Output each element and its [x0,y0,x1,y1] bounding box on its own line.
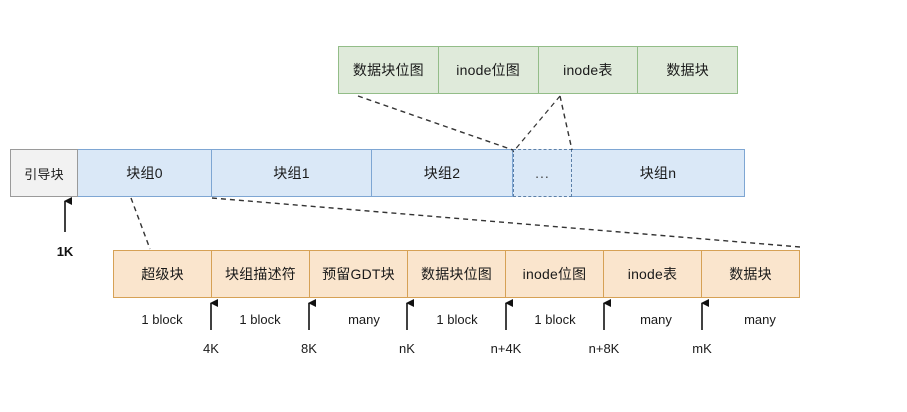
disk-cell-ellipsis: ... [513,149,572,197]
connector-ellipsis-to-green [358,96,572,152]
green-cell-data-blocks: 数据块 [638,47,737,93]
size-label-inode-table: many [640,312,672,327]
size-label-data-block-bitmap: 1 block [436,312,477,327]
offset-label-4k: 4K [203,341,219,356]
disk-cell-block-group-2: 块组2 [372,150,513,196]
offset-label-8k: 8K [301,341,317,356]
orange-cell-reserved-gdt: 预留GDT块 [310,251,408,297]
disk-cell-block-group-n: 块组n [572,150,744,196]
diagram-canvas: 数据块位图 inode位图 inode表 数据块 引导块 块组0 块组1 块组2… [0,0,907,412]
disk-cell-block-group-0: 块组0 [78,150,212,196]
offset-label-n-plus-8k: n+8K [589,341,620,356]
orange-cell-data-blocks: 数据块 [702,251,799,297]
block-group-detail-strip: 超级块 块组描述符 预留GDT块 数据块位图 inode位图 inode表 数据… [113,250,800,298]
orange-cell-inode-bitmap: inode位图 [506,251,604,297]
offset-label-n-plus-4k: n+4K [491,341,522,356]
orange-cell-superblock: 超级块 [114,251,212,297]
orange-cell-inode-table: inode表 [604,251,702,297]
boot-block-size-label: 1K [57,244,74,259]
green-cell-inode-bitmap: inode位图 [439,47,539,93]
orange-cell-group-descriptor: 块组描述符 [212,251,310,297]
offset-label-nk: nK [399,341,415,356]
size-label-reserved-gdt: many [348,312,380,327]
size-label-data-blocks: many [744,312,776,327]
green-cell-data-block-bitmap: 数据块位图 [339,47,439,93]
size-label-superblock: 1 block [141,312,182,327]
size-label-inode-bitmap: 1 block [534,312,575,327]
disk-cell-block-group-1: 块组1 [212,150,372,196]
disk-cell-boot-block: 引导块 [10,149,78,197]
green-cell-inode-table: inode表 [539,47,639,93]
orange-cell-data-block-bitmap: 数据块位图 [408,251,506,297]
group-detail-top-strip: 数据块位图 inode位图 inode表 数据块 [338,46,738,94]
size-label-group-descriptor: 1 block [239,312,280,327]
disk-layout-strip: 引导块 块组0 块组1 块组2 ... 块组n [10,149,745,197]
connector-group0-to-orange [131,198,800,249]
offset-label-mk: mK [692,341,712,356]
